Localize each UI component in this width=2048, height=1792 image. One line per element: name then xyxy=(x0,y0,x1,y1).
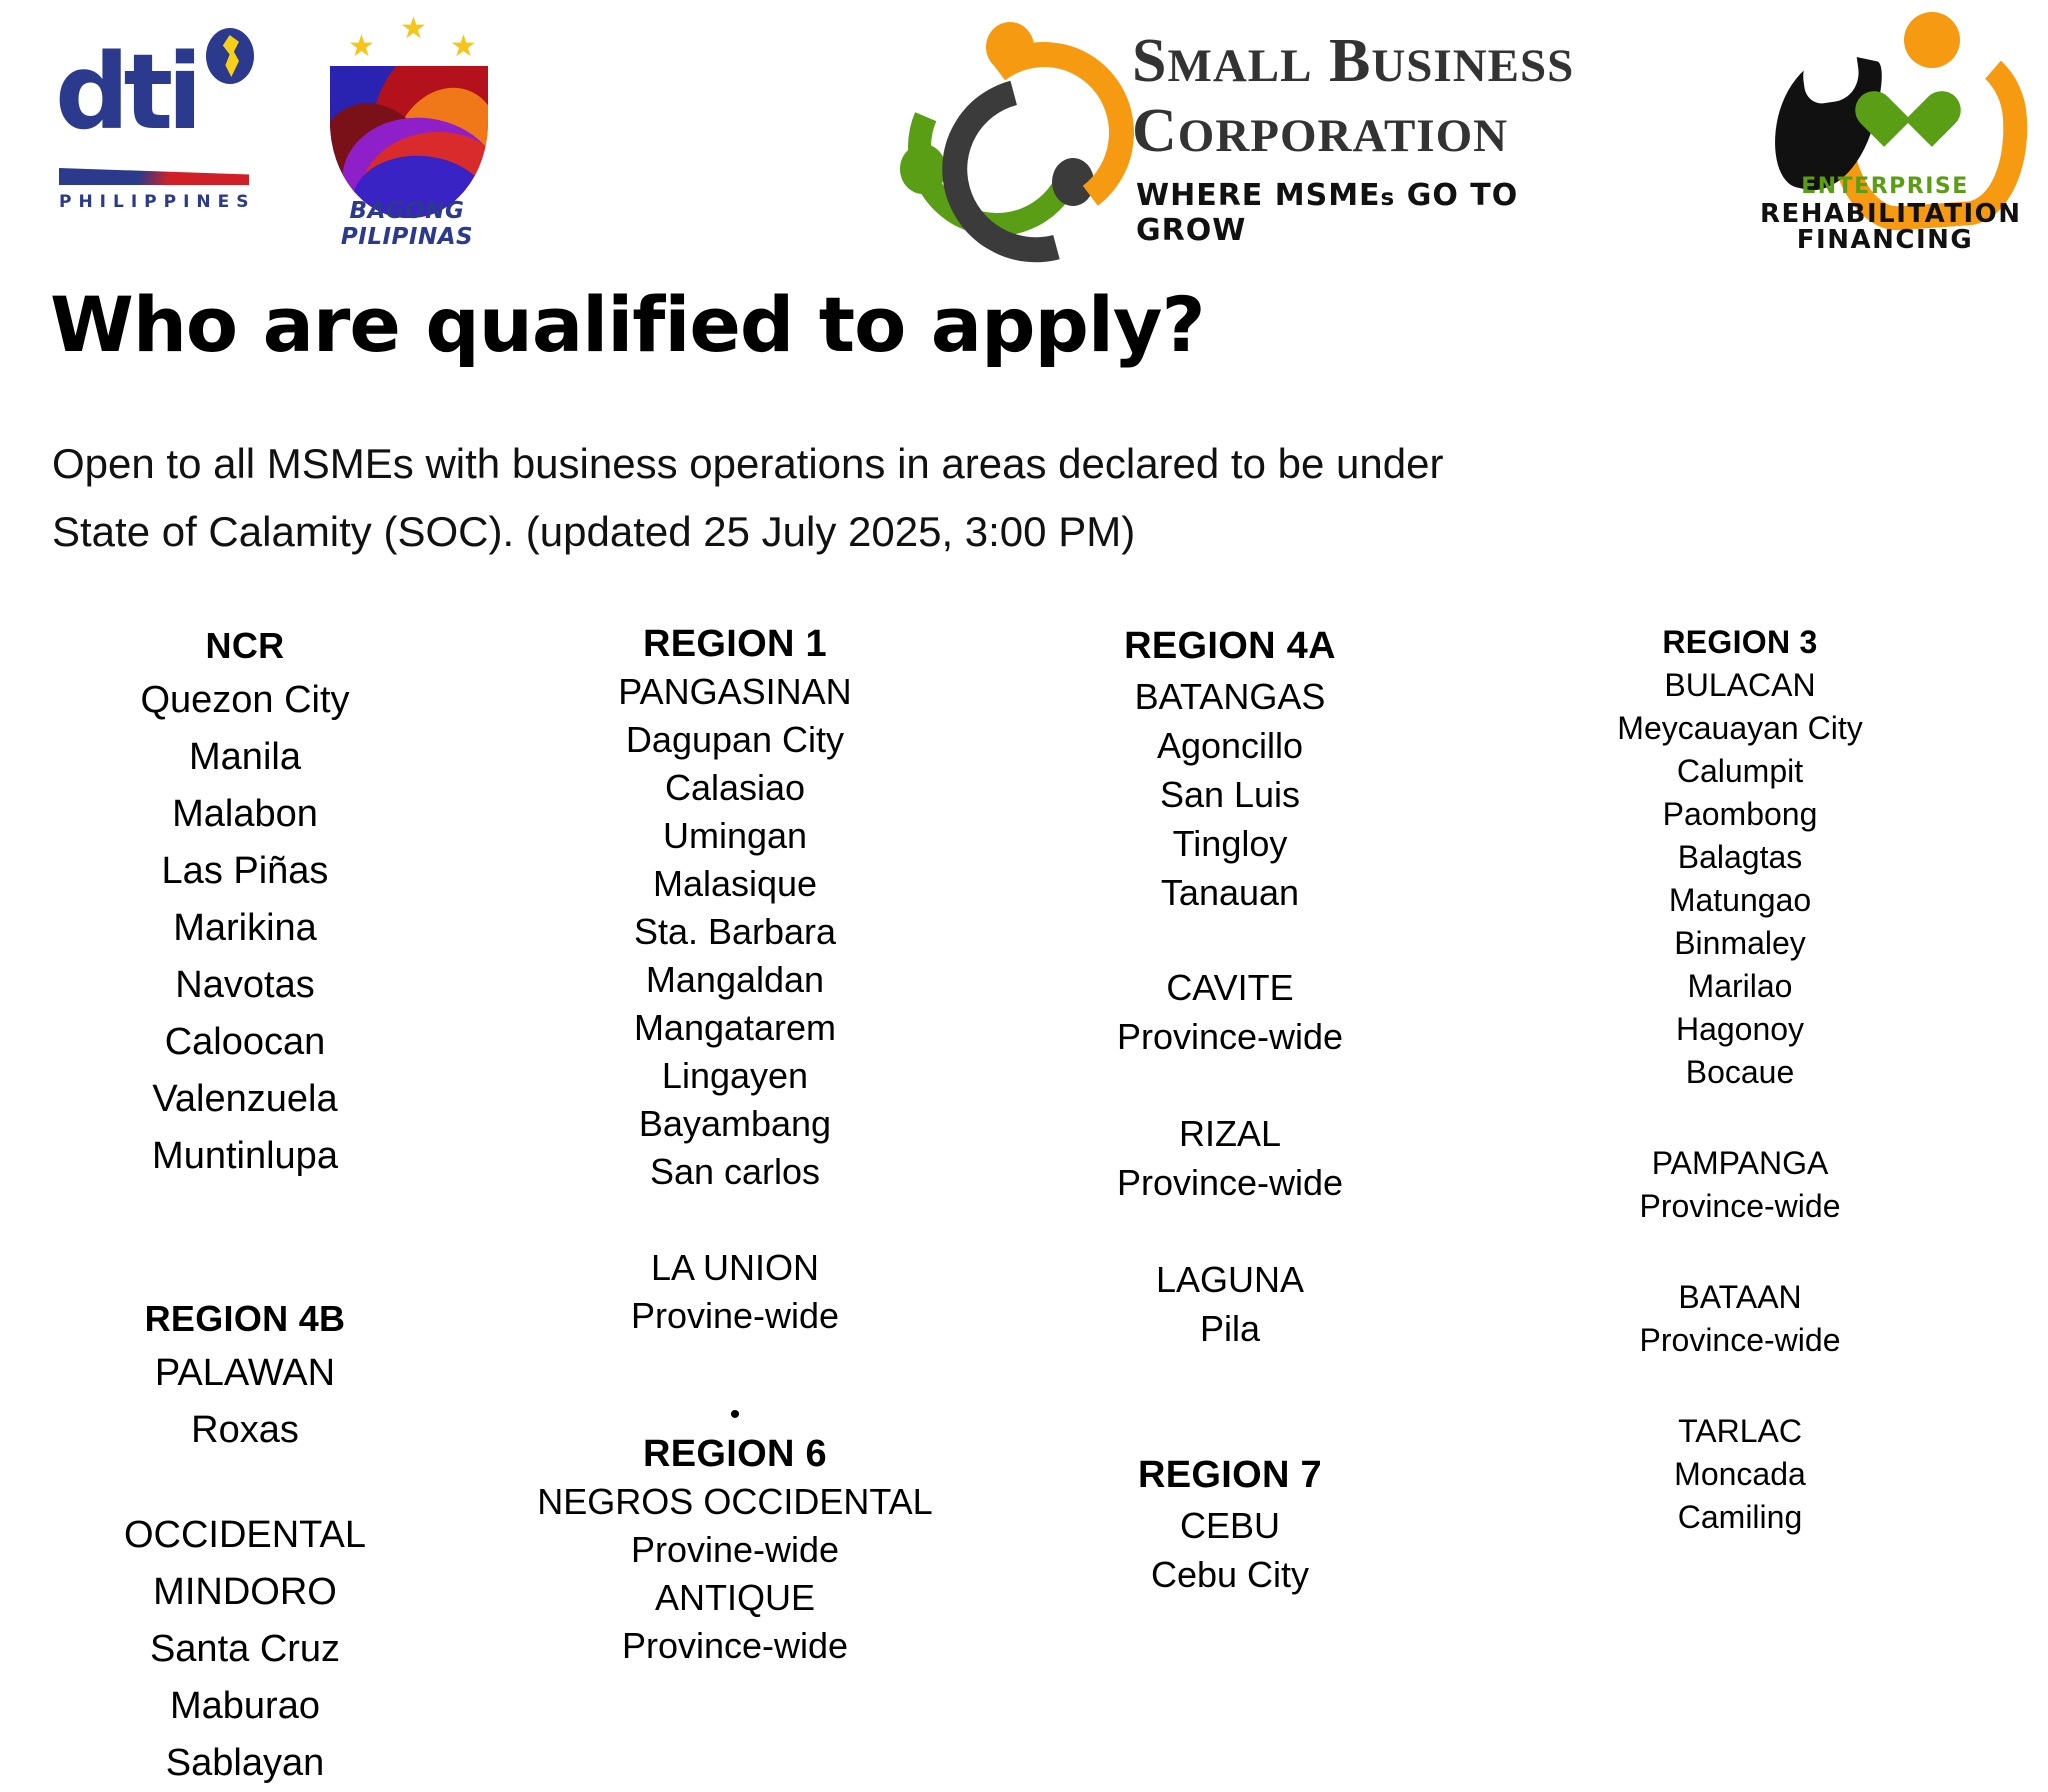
province-name: PANGASINAN xyxy=(520,668,950,716)
locality-item: Sablayan xyxy=(30,1735,460,1792)
locality-item: Umingan xyxy=(520,812,950,860)
locality-item: Roxas xyxy=(30,1402,460,1459)
philippines-globe-icon xyxy=(206,28,254,84)
bagong-pilipinas-swoosh xyxy=(330,66,488,218)
locality-item: Camiling xyxy=(1525,1496,1955,1539)
locality-item: Province-wide xyxy=(1525,1185,1955,1228)
region-heading: REGION 4A xyxy=(1015,620,1445,672)
locality-item: Mangatarem xyxy=(520,1004,950,1052)
sbcorp-people-circle-icon xyxy=(900,16,1105,211)
locality-item: Sta. Barbara xyxy=(520,908,950,956)
province-name: BULACAN xyxy=(1525,664,1955,707)
bagong-pilipinas-label: BAGONG PILIPINAS xyxy=(282,198,532,250)
locality-item: San carlos xyxy=(520,1148,950,1196)
logo-header: dti PHILIPPINES ★★★ BAGONG PILIPINAS xyxy=(0,0,2048,250)
province-name: LAGUNA xyxy=(1015,1255,1445,1304)
locality-item: Hagonoy xyxy=(1525,1008,1955,1051)
locality-item: Paombong xyxy=(1525,793,1955,836)
locality-item: Mangaldan xyxy=(520,956,950,1004)
province-name: BATAAN xyxy=(1525,1276,1955,1319)
province-name: PAMPANGA xyxy=(1525,1142,1955,1185)
sbcorp-title-line2: CORPORATION xyxy=(1132,96,1508,167)
erf-line-financing: FINANCING xyxy=(1760,225,2010,255)
locality-item: Dagupan City xyxy=(520,716,950,764)
locality-item: Malabon xyxy=(30,786,460,843)
column-ncr: NCRQuezon CityManilaMalabonLas PiñasMari… xyxy=(30,620,460,1792)
locality-item: Meycauayan City xyxy=(1525,707,1955,750)
locality-item: Muntinlupa xyxy=(30,1128,460,1185)
province-name: LA UNION xyxy=(520,1244,950,1292)
dti-color-bar xyxy=(59,168,249,185)
locality-item: Province-wide xyxy=(1015,1012,1445,1061)
sbcorp-tagline: WHERE MSMEs GO TO GROW xyxy=(1136,178,1620,248)
locality-item: Provine-wide xyxy=(520,1526,950,1574)
province-name: CEBU xyxy=(1015,1501,1445,1550)
region-heading: NCR xyxy=(30,620,460,672)
region-columns: NCRQuezon CityManilaMalabonLas PiñasMari… xyxy=(0,620,2048,1620)
region-heading: REGION 1 xyxy=(520,620,950,668)
locality-item: Province-wide xyxy=(1525,1319,1955,1362)
block-spacer xyxy=(30,1459,460,1507)
block-spacer xyxy=(520,1340,950,1400)
locality-item: Manila xyxy=(30,729,460,786)
locality-item: Calumpit xyxy=(1525,750,1955,793)
locality-item: Tingloy xyxy=(1015,819,1445,868)
dti-subtitle: PHILIPPINES xyxy=(59,192,251,212)
bullet-marker: • xyxy=(520,1400,950,1430)
locality-item: Province-wide xyxy=(520,1622,950,1670)
locality-item: Binmaley xyxy=(1525,922,1955,965)
locality-item: San Luis xyxy=(1015,770,1445,819)
region-heading: REGION 3 xyxy=(1525,620,1955,664)
block-spacer xyxy=(1015,1061,1445,1109)
locality-item: Bayambang xyxy=(520,1100,950,1148)
locality-item: Santa Cruz xyxy=(30,1621,460,1678)
province-name: OCCIDENTAL MINDORO xyxy=(30,1507,460,1621)
locality-item: Lingayen xyxy=(520,1052,950,1100)
erf-line-enterprise: ENTERPRISE xyxy=(1760,174,2010,199)
province-name: RIZAL xyxy=(1015,1109,1445,1158)
region-heading: REGION 4B xyxy=(30,1293,460,1345)
locality-item: Balagtas xyxy=(1525,836,1955,879)
locality-item: Valenzuela xyxy=(30,1071,460,1128)
locality-item: Navotas xyxy=(30,957,460,1014)
locality-item: ANTIQUE xyxy=(520,1574,950,1622)
column-region4a: REGION 4ABATANGASAgoncilloSan LuisTinglo… xyxy=(1015,620,1445,1599)
block-spacer xyxy=(1525,1094,1955,1142)
province-name: TARLAC xyxy=(1525,1410,1955,1453)
bagong-pilipinas-logo: ★★★ BAGONG PILIPINAS xyxy=(300,8,515,223)
locality-item: Moncada xyxy=(1525,1453,1955,1496)
locality-item: Pila xyxy=(1015,1304,1445,1353)
locality-item: Provine-wide xyxy=(520,1292,950,1340)
hand-heart-icon xyxy=(1818,10,1973,175)
page-title: Who are qualified to apply? xyxy=(50,284,1205,366)
locality-item: Matungao xyxy=(1525,879,1955,922)
column-region3: REGION 3BULACANMeycauayan CityCalumpitPa… xyxy=(1525,620,1955,1539)
dti-logo: dti PHILIPPINES xyxy=(55,22,260,217)
block-spacer xyxy=(1015,1353,1445,1449)
locality-item: Cebu City xyxy=(1015,1550,1445,1599)
locality-item: Quezon City xyxy=(30,672,460,729)
locality-item: Caloocan xyxy=(30,1014,460,1071)
locality-item: Province-wide xyxy=(1015,1158,1445,1207)
page-subtitle: Open to all MSMEs with business operatio… xyxy=(52,430,1552,566)
locality-item: Marikina xyxy=(30,900,460,957)
block-spacer xyxy=(520,1196,950,1244)
region-heading: REGION 6 xyxy=(520,1430,950,1478)
locality-item: Calasiao xyxy=(520,764,950,812)
column-region1: REGION 1PANGASINANDagupan CityCalasiaoUm… xyxy=(520,620,950,1670)
province-name: BATANGAS xyxy=(1015,672,1445,721)
block-spacer xyxy=(1525,1362,1955,1410)
locality-item: Las Piñas xyxy=(30,843,460,900)
province-name: PALAWAN xyxy=(30,1345,460,1402)
province-name: CAVITE xyxy=(1015,963,1445,1012)
locality-item: Maburao xyxy=(30,1678,460,1735)
locality-item: Tanauan xyxy=(1015,868,1445,917)
locality-item: Agoncillo xyxy=(1015,721,1445,770)
erf-logo: ENTERPRISE REHABILITATION FINANCING xyxy=(1760,2,2010,250)
region-heading: REGION 7 xyxy=(1015,1449,1445,1501)
locality-item: Bocaue xyxy=(1525,1051,1955,1094)
province-name: NEGROS OCCIDENTAL xyxy=(520,1478,950,1526)
block-spacer xyxy=(1015,1207,1445,1255)
block-spacer xyxy=(1525,1228,1955,1276)
locality-item: Marilao xyxy=(1525,965,1955,1008)
block-spacer xyxy=(1015,917,1445,963)
sbcorp-logo: SMALL BUSINESS CORPORATION WHERE MSMEs G… xyxy=(900,8,1620,228)
block-spacer xyxy=(30,1185,460,1293)
sbcorp-title-line1: SMALL BUSINESS xyxy=(1132,26,1574,97)
locality-item: Malasique xyxy=(520,860,950,908)
